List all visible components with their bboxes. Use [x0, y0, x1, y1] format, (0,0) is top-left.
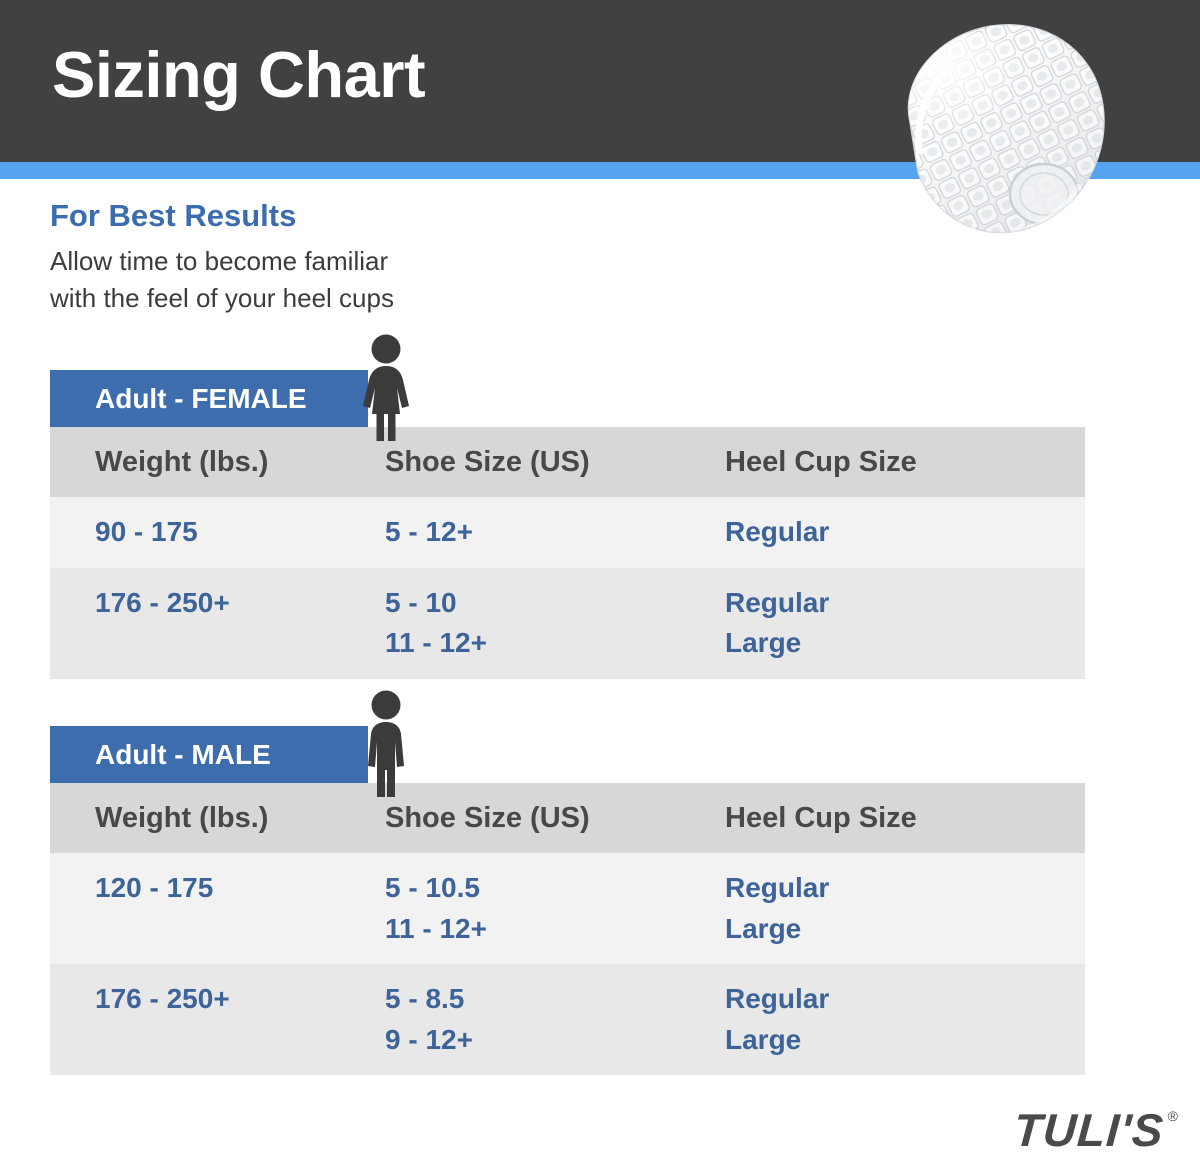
- female-figure-icon: [355, 334, 417, 447]
- column-header-shoe-size: Shoe Size (US): [385, 783, 725, 853]
- column-header-weight: Weight (lbs.): [50, 783, 385, 853]
- cell-heel-cup-line-1: Regular: [725, 512, 1085, 553]
- cell-shoe-size-line-2: 11 - 12+: [385, 623, 725, 664]
- cell-shoe-size: 5 - 8.5 9 - 12+: [385, 964, 725, 1075]
- registered-trademark-icon: ®: [1168, 1109, 1178, 1123]
- cell-heel-cup-line-1: Regular: [725, 979, 1085, 1020]
- cell-shoe-size-line-1: 5 - 10: [385, 583, 725, 624]
- sizing-table-male: Weight (lbs.) Shoe Size (US) Heel Cup Si…: [50, 783, 1085, 1075]
- sizing-chart-page: Sizing Chart: [0, 0, 1200, 1169]
- cell-shoe-size: 5 - 10.5 11 - 12+: [385, 853, 725, 964]
- table-row: 176 - 250+ 5 - 8.5 9 - 12+ Regular Large: [50, 964, 1085, 1075]
- cell-heel-cup-line-2: Large: [725, 1020, 1085, 1061]
- cell-heel-cup-line-2: Large: [725, 909, 1085, 950]
- sizing-table-female: Weight (lbs.) Shoe Size (US) Heel Cup Si…: [50, 427, 1085, 679]
- cell-shoe-size: 5 - 10 11 - 12+: [385, 568, 725, 679]
- cell-heel-cup-line-1: Regular: [725, 868, 1085, 909]
- tulis-logo-text: TULI'S: [1012, 1107, 1165, 1153]
- cell-heel-cup-size: Regular Large: [725, 568, 1085, 679]
- cell-weight: 176 - 250+: [50, 568, 385, 679]
- cell-weight: 90 - 175: [50, 497, 385, 568]
- page-header: Sizing Chart: [0, 0, 1200, 162]
- intro-text-line-1: Allow time to become familiar: [50, 246, 388, 277]
- cell-shoe-size-line-1: 5 - 8.5: [385, 979, 725, 1020]
- cell-shoe-size-line-1: 5 - 10.5: [385, 868, 725, 909]
- cell-shoe-size-line-2: 9 - 12+: [385, 1020, 725, 1061]
- cell-weight: 120 - 175: [50, 853, 385, 964]
- column-header-shoe-size: Shoe Size (US): [385, 427, 725, 497]
- section-banner-female: Adult - FEMALE: [50, 370, 368, 427]
- cell-shoe-size: 5 - 12+: [385, 497, 725, 568]
- cell-heel-cup-size: Regular Large: [725, 853, 1085, 964]
- table-row: 120 - 175 5 - 10.5 11 - 12+ Regular Larg…: [50, 853, 1085, 964]
- cell-shoe-size-line-2: 11 - 12+: [385, 909, 725, 950]
- table-header-row: Weight (lbs.) Shoe Size (US) Heel Cup Si…: [50, 783, 1085, 853]
- cell-heel-cup-line-2: Large: [725, 623, 1085, 664]
- page-title: Sizing Chart: [52, 42, 425, 107]
- cell-heel-cup-line-1: Regular: [725, 583, 1085, 624]
- table-row: 176 - 250+ 5 - 10 11 - 12+ Regular Large: [50, 568, 1085, 679]
- section-banner-male: Adult - MALE: [50, 726, 368, 783]
- column-header-weight: Weight (lbs.): [50, 427, 385, 497]
- table-header-row: Weight (lbs.) Shoe Size (US) Heel Cup Si…: [50, 427, 1085, 497]
- cell-weight: 176 - 250+: [50, 964, 385, 1075]
- male-figure-icon: [355, 690, 417, 803]
- intro-text-line-2: with the feel of your heel cups: [50, 283, 394, 314]
- tulis-logo: TULI'S ®: [1014, 1107, 1178, 1153]
- table-row: 90 - 175 5 - 12+ Regular: [50, 497, 1085, 568]
- column-header-heel-cup-size: Heel Cup Size: [725, 783, 1085, 853]
- cell-shoe-size-line-1: 5 - 12+: [385, 512, 725, 553]
- column-header-heel-cup-size: Heel Cup Size: [725, 427, 1085, 497]
- section-banner-female-label: Adult - FEMALE: [95, 383, 307, 415]
- accent-stripe: [0, 162, 1200, 179]
- cell-heel-cup-size: Regular Large: [725, 964, 1085, 1075]
- section-banner-male-label: Adult - MALE: [95, 739, 271, 771]
- intro-heading: For Best Results: [50, 198, 296, 234]
- cell-heel-cup-size: Regular: [725, 497, 1085, 568]
